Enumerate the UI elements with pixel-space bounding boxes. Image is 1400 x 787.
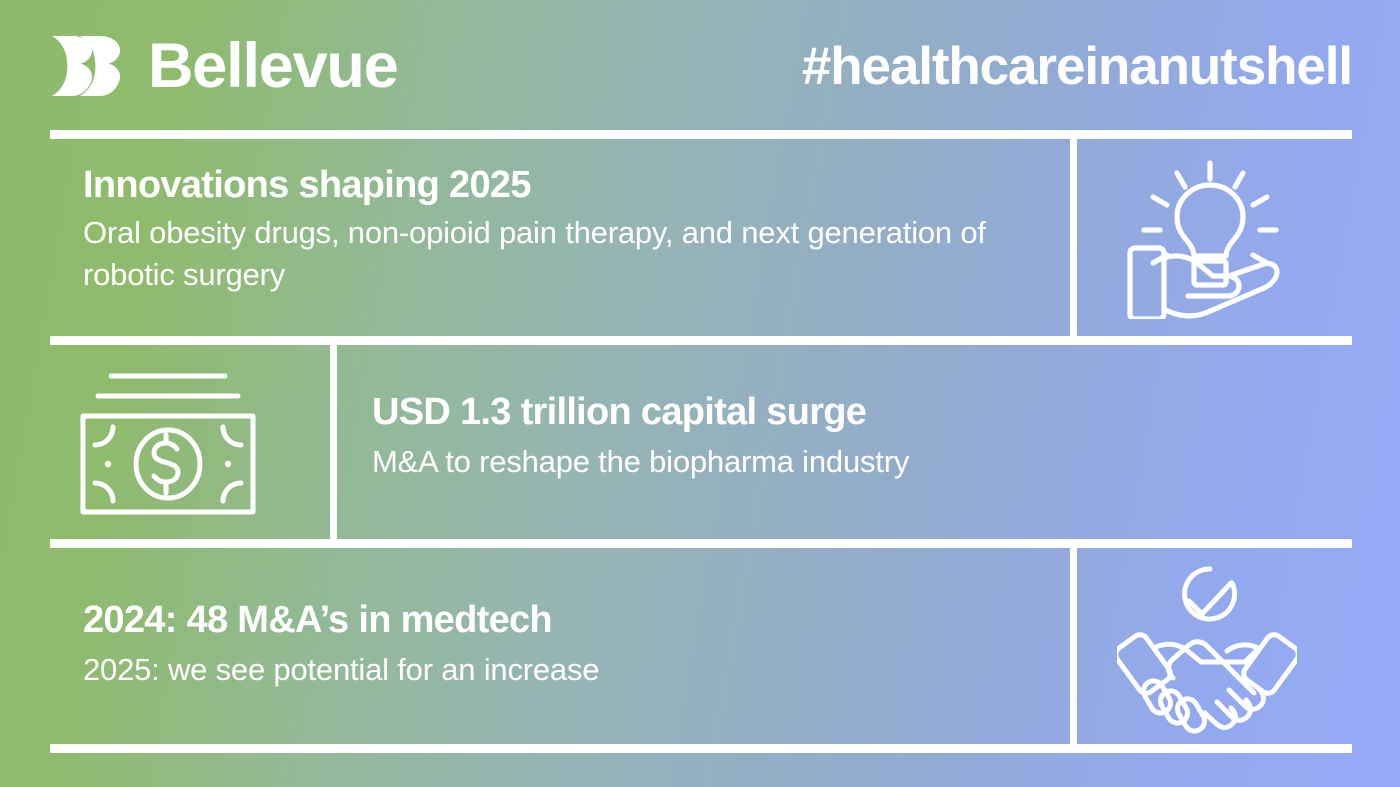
- row-1-text-block: Innovations shaping 2025 Oral obesity dr…: [83, 163, 1023, 296]
- divider-after-row-2: [50, 539, 1352, 548]
- divider-bottom: [50, 744, 1352, 753]
- content-row-innovations: Innovations shaping 2025 Oral obesity dr…: [50, 139, 1352, 336]
- row-3-text-block: 2024: 48 M&A’s in medtech 2025: we see p…: [83, 598, 1023, 691]
- banknote-dollar-icon: [63, 367, 325, 517]
- row-2-text-block: USD 1.3 trillion capital surge M&A to re…: [372, 390, 1272, 483]
- row-2-subline: M&A to reshape the biopharma industry: [372, 441, 1272, 483]
- row-3-subline: 2025: we see potential for an increase: [83, 649, 1023, 691]
- content-row-mna-medtech: 2024: 48 M&A’s in medtech 2025: we see p…: [50, 548, 1352, 744]
- divider-after-row-1: [50, 336, 1352, 345]
- header: Bellevue #healthcareinanutshell: [50, 34, 1352, 116]
- divider-top: [50, 130, 1352, 139]
- row-2-headline: USD 1.3 trillion capital surge: [372, 390, 1272, 435]
- brand-lockup: Bellevue: [50, 34, 398, 98]
- content-row-capital-surge: USD 1.3 trillion capital surge M&A to re…: [50, 345, 1352, 539]
- campaign-hashtag: #healthcareinanutshell: [802, 40, 1352, 93]
- infographic-canvas: Bellevue #healthcareinanutshell Innovati…: [0, 0, 1400, 787]
- row-1-subline: Oral obesity drugs, non-opioid pain ther…: [83, 212, 1023, 296]
- handshake-check-icon: [1117, 562, 1297, 734]
- brand-name: Bellevue: [148, 35, 398, 98]
- row-3-headline: 2024: 48 M&A’s in medtech: [83, 598, 1023, 643]
- bellevue-double-b-logo-icon: [50, 34, 122, 98]
- row-1-headline: Innovations shaping 2025: [83, 163, 1023, 208]
- lightbulb-in-hand-icon: [1122, 157, 1292, 319]
